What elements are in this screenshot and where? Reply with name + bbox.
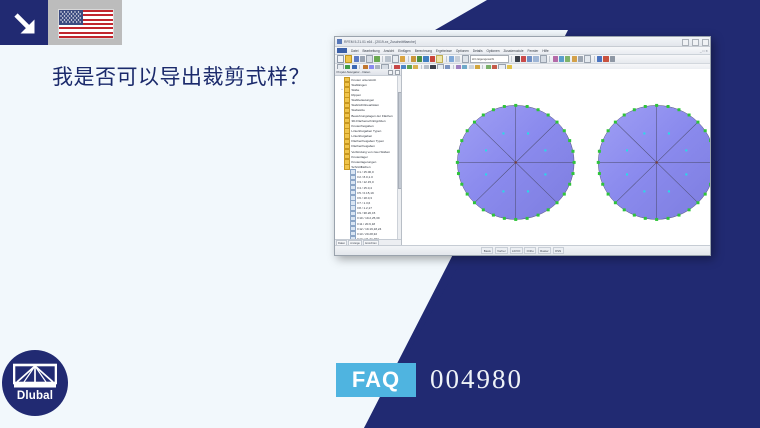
- dlubal-frame-icon: [13, 362, 57, 390]
- arrow-down-right-icon: [0, 0, 48, 45]
- language-flag-panel[interactable]: [48, 0, 122, 45]
- toolbar-primary[interactable]: LF1 Eigengewicht: [335, 55, 710, 64]
- page-title: 我是否可以导出裁剪式样？: [52, 64, 352, 91]
- faq-badge: FAQ: [336, 363, 416, 397]
- navigator-header-buttons[interactable]: [388, 70, 400, 75]
- tree-item-label: Stabbelastungen: [351, 98, 374, 102]
- boundary-node[interactable]: [614, 121, 617, 124]
- menu-item-8[interactable]: Optionen: [487, 49, 500, 53]
- toolbar-icon-view-xz[interactable]: [565, 56, 570, 61]
- boundary-node[interactable]: [677, 108, 680, 111]
- boundary-node[interactable]: [473, 201, 476, 204]
- tree-item-label: F4 / 15.0,4: [357, 186, 372, 190]
- status-bar[interactable]: Basis Vorher LF/VO Ortho Raster OSN: [335, 245, 710, 255]
- toolbar-separator-5: [549, 56, 550, 62]
- toolbar-icon-grid[interactable]: [578, 56, 583, 61]
- project-navigator[interactable]: Projekt-Navigator - Daten Knoten unterst…: [335, 69, 402, 246]
- tree-item-label: Rippen: [351, 93, 361, 97]
- boundary-node[interactable]: [607, 129, 610, 132]
- tree-item-label: 3D-Flächenschnittgrößen: [351, 119, 385, 123]
- boundary-node[interactable]: [704, 129, 707, 132]
- toolbar-icon-refresh[interactable]: [423, 56, 428, 61]
- shape-icon: [350, 205, 356, 210]
- us-flag-icon: [58, 9, 114, 39]
- boundary-node[interactable]: [623, 114, 626, 117]
- boundary-node[interactable]: [556, 121, 559, 124]
- menu-item-7[interactable]: Details: [473, 49, 483, 53]
- menu-item-4[interactable]: Berechnung: [415, 49, 432, 53]
- boundary-node[interactable]: [466, 193, 469, 196]
- tree-item-label: Verbindung von zwei Stäben: [351, 150, 390, 154]
- sector-marker-point[interactable]: [643, 190, 645, 192]
- boundary-node[interactable]: [709, 183, 710, 186]
- model-geometry: [402, 69, 710, 246]
- tree-item-label: Knotenfreigaben: [351, 124, 373, 128]
- boundary-node[interactable]: [601, 139, 604, 142]
- boundary-node[interactable]: [696, 121, 699, 124]
- tree-item-label: F7 / 1.3,6: [357, 201, 370, 205]
- tree-item-label: Stabsätze: [351, 108, 365, 112]
- center-node[interactable]: [515, 161, 517, 163]
- toolbar-separator: [382, 56, 383, 62]
- boundary-node[interactable]: [457, 172, 460, 175]
- boundary-node[interactable]: [563, 193, 566, 196]
- tree-item-label: Stäbe: [351, 88, 359, 92]
- boundary-node[interactable]: [460, 183, 463, 186]
- boundary-node[interactable]: [598, 150, 601, 153]
- tree-item-label: F12 / 19.19,18,24: [357, 227, 381, 231]
- toolbar-icon-copy[interactable]: [392, 55, 399, 62]
- sector-marker-point[interactable]: [643, 132, 645, 134]
- boundary-node[interactable]: [633, 108, 636, 111]
- sector-marker-point[interactable]: [502, 132, 504, 134]
- boundary-node[interactable]: [696, 201, 699, 204]
- menu-item-1[interactable]: Bearbeitung: [362, 49, 379, 53]
- boundary-node[interactable]: [667, 217, 670, 220]
- center-node[interactable]: [656, 161, 658, 163]
- menu-app-badge: [337, 48, 347, 54]
- tree-item-label: F11 / 20.9,18: [357, 222, 375, 226]
- toolbar-icon-view-yz[interactable]: [572, 56, 577, 61]
- toolbar-separator-4: [511, 56, 512, 62]
- navigator-pin-button[interactable]: [388, 70, 393, 75]
- status-cell-0[interactable]: Basis: [481, 247, 493, 254]
- toolbar-icon-undo[interactable]: [411, 56, 416, 61]
- menu-item-11[interactable]: Hilfe: [542, 49, 548, 53]
- boundary-node[interactable]: [456, 161, 459, 164]
- tree-item-label: F1 / 15.00,0: [357, 170, 373, 174]
- boundary-node[interactable]: [688, 208, 691, 211]
- boundary-node[interactable]: [482, 208, 485, 211]
- boundary-node[interactable]: [709, 139, 710, 142]
- boundary-node[interactable]: [598, 172, 601, 175]
- tree-item-label: F2 / 8.0,1.0: [357, 175, 372, 179]
- boundary-node[interactable]: [633, 214, 636, 217]
- toolbar-separator-6: [594, 56, 595, 62]
- dlubal-logo: Dlubal: [2, 350, 68, 416]
- boundary-node[interactable]: [571, 172, 574, 175]
- menu-item-9[interactable]: Zusatzmodule: [503, 49, 523, 53]
- load-case-combo[interactable]: LF1 Eigengewicht: [470, 55, 509, 63]
- boundary-node[interactable]: [537, 108, 540, 111]
- boundary-node[interactable]: [466, 129, 469, 132]
- boundary-node[interactable]: [568, 183, 571, 186]
- toolbar-icon-print[interactable]: [360, 56, 365, 61]
- window-titlebar[interactable]: RFEM 5.21.01 x64 - [2019-xx_Zuschnittfla…: [335, 37, 710, 47]
- tree-item[interactable]: F14 / 21.21,152: [335, 236, 401, 239]
- window-controls[interactable]: [682, 39, 709, 46]
- toolbar-separator-2: [408, 56, 409, 62]
- tree-item-label: Stablängen: [351, 83, 366, 87]
- boundary-node[interactable]: [492, 108, 495, 111]
- boundary-node[interactable]: [503, 105, 506, 108]
- faq-number: 004980: [430, 362, 523, 396]
- tree-item-label: F6 / 18.0,3: [357, 196, 372, 200]
- boundary-node[interactable]: [667, 105, 670, 108]
- minimize-button[interactable]: [682, 39, 689, 46]
- menu-item-0[interactable]: Datei: [351, 49, 358, 53]
- toolbar-icon-info[interactable]: [603, 56, 608, 61]
- toolbar-separator-3: [446, 56, 447, 62]
- circular-surface[interactable]: [597, 104, 710, 221]
- boundary-node[interactable]: [601, 183, 604, 186]
- sector-marker-point[interactable]: [544, 149, 546, 151]
- sector-marker-point[interactable]: [485, 149, 487, 151]
- tree-item-label: Linienfreigaben: [351, 134, 372, 138]
- boundary-node[interactable]: [607, 193, 610, 196]
- toolbar-icon-paste[interactable]: [400, 56, 405, 61]
- boundary-node[interactable]: [571, 150, 574, 153]
- boundary-node[interactable]: [573, 161, 576, 164]
- boundary-node[interactable]: [503, 217, 506, 220]
- status-cell-1[interactable]: Vorher: [495, 247, 508, 254]
- toolbar-icon-results[interactable]: [436, 55, 443, 62]
- slide-canvas: 我是否可以导出裁剪式样？ FAQ 004980 Dlubal RFEM 5.21…: [0, 0, 760, 428]
- sector-marker-point[interactable]: [685, 173, 687, 175]
- shape-icon: [350, 236, 356, 239]
- tree-item-label: F14 / 21.21,152: [357, 237, 378, 239]
- tree-item-label: Knotenlager: [351, 155, 367, 159]
- toolbar-icon-save[interactable]: [354, 56, 359, 61]
- toolbar-icon-shade[interactable]: [540, 55, 547, 62]
- boundary-node[interactable]: [556, 201, 559, 204]
- sector-marker-point[interactable]: [685, 149, 687, 151]
- toolbar-icon-redo[interactable]: [417, 56, 422, 61]
- boundary-node[interactable]: [655, 104, 658, 107]
- close-button[interactable]: [702, 39, 709, 46]
- boundary-node[interactable]: [655, 218, 658, 221]
- maximize-button[interactable]: [692, 39, 699, 46]
- navigator-title: Projekt-Navigator - Daten: [337, 70, 371, 74]
- toolbar-icon-render[interactable]: [527, 56, 532, 61]
- status-cell-4[interactable]: Raster: [538, 247, 551, 254]
- dlubal-wordmark: Dlubal: [2, 390, 68, 402]
- tree-item-label: Linienfreigaben Typen: [351, 129, 381, 133]
- boundary-node[interactable]: [623, 208, 626, 211]
- menu-item-6[interactable]: Optionen: [456, 49, 469, 53]
- toolbar-icon-wire[interactable]: [533, 56, 538, 61]
- toolbar-icon-help[interactable]: [597, 56, 602, 61]
- toolbar-icon-settings[interactable]: [610, 56, 615, 61]
- boundary-node[interactable]: [526, 217, 529, 220]
- tree-item-label: Flächenfreigaben: [351, 144, 375, 148]
- tree-item-label: Knotenlagerungen: [351, 160, 376, 164]
- mdi-window-controls[interactable]: _ □ ✕: [700, 49, 708, 53]
- navigator-scrollbar[interactable]: [397, 76, 401, 239]
- toolbar-icon-bold[interactable]: [515, 56, 520, 61]
- sector-marker-point[interactable]: [668, 132, 670, 134]
- sector-marker-point[interactable]: [668, 190, 670, 192]
- shape-icon: [350, 169, 356, 174]
- app-icon: [337, 39, 342, 44]
- menu-bar[interactable]: Datei Bearbeitung Ansicht Einfügen Berec…: [335, 47, 710, 55]
- tree-item-label: Stabnichtlinearitäten: [351, 103, 379, 107]
- boundary-node[interactable]: [482, 114, 485, 117]
- boundary-node[interactable]: [526, 105, 529, 108]
- boundary-node[interactable]: [688, 114, 691, 117]
- tree-item-label: Schnittflächen: [351, 165, 370, 169]
- boundary-node[interactable]: [547, 114, 550, 117]
- toolbar-icon-view-xy[interactable]: [559, 56, 564, 61]
- toolbar-icon-snap[interactable]: [584, 55, 591, 62]
- boundary-node[interactable]: [514, 104, 517, 107]
- tree-item-label: Flächenfreigaben Typen: [351, 139, 384, 143]
- boundary-node[interactable]: [704, 193, 707, 196]
- boundary-node[interactable]: [568, 139, 571, 142]
- toolbar-icon-preview[interactable]: [366, 55, 373, 62]
- boundary-node[interactable]: [644, 105, 647, 108]
- tree-item-label: Bewehrungslagen der Flächen: [351, 114, 392, 118]
- sector-marker-point[interactable]: [527, 132, 529, 134]
- boundary-node[interactable]: [473, 121, 476, 124]
- toolbar-icon-cut[interactable]: [385, 56, 390, 61]
- toolbar-icon-pan[interactable]: [462, 55, 469, 62]
- sector-marker-point[interactable]: [527, 190, 529, 192]
- work-area: Projekt-Navigator - Daten Knoten unterst…: [335, 69, 710, 246]
- menu-item-10[interactable]: Fenster: [528, 49, 539, 53]
- tree-item-label: Knoten unterstützt: [351, 78, 376, 82]
- model-viewport[interactable]: [402, 69, 710, 246]
- menu-item-3[interactable]: Einfügen: [398, 49, 411, 53]
- tree-item-label: F5 / 0.15,19: [357, 191, 373, 195]
- toolbar-icon-color[interactable]: [521, 56, 526, 61]
- sector-marker-point[interactable]: [502, 190, 504, 192]
- boundary-node[interactable]: [537, 214, 540, 217]
- toolbar-icon-zoom-out[interactable]: [455, 56, 460, 61]
- boundary-node[interactable]: [460, 139, 463, 142]
- menu-item-5[interactable]: Ergebnisse: [436, 49, 452, 53]
- tree-item-label: F9 / 38.20,15: [357, 211, 375, 215]
- tree-item-label: F10 / 19.2,25,39: [357, 216, 379, 220]
- boundary-node[interactable]: [597, 161, 600, 164]
- boundary-node[interactable]: [644, 217, 647, 220]
- boundary-node[interactable]: [677, 214, 680, 217]
- status-cell-3[interactable]: Ortho: [524, 247, 536, 254]
- navigator-tree[interactable]: Knoten unterstütztStablängen+StäbeRippen…: [335, 76, 401, 239]
- circular-surface[interactable]: [456, 104, 576, 221]
- tree-item-label: F3 / 12.15,0: [357, 180, 373, 184]
- tree-item-label: F8 / 1.2,17: [357, 206, 372, 210]
- status-cell-5[interactable]: OSN: [553, 247, 564, 254]
- toolbar-icon-new[interactable]: [337, 55, 344, 62]
- boundary-node[interactable]: [457, 150, 460, 153]
- navigator-header: Projekt-Navigator - Daten: [335, 69, 401, 76]
- navigator-close-button[interactable]: [395, 70, 400, 75]
- toolbar-icon-calc[interactable]: [430, 56, 435, 61]
- toolbar-icon-open[interactable]: [345, 55, 352, 62]
- window-title: RFEM 5.21.01 x64 - [2019-xx_Zuschnittfla…: [344, 40, 416, 44]
- sector-marker-point[interactable]: [485, 173, 487, 175]
- sector-marker-point[interactable]: [626, 149, 628, 151]
- toolbar-icon-view-iso[interactable]: [553, 56, 558, 61]
- application-window[interactable]: RFEM 5.21.01 x64 - [2019-xx_Zuschnittfla…: [334, 36, 711, 256]
- sector-marker-point[interactable]: [626, 173, 628, 175]
- boundary-node[interactable]: [514, 218, 517, 221]
- boundary-node[interactable]: [492, 214, 495, 217]
- status-cell-2[interactable]: LF/VO: [510, 247, 523, 254]
- toolbar-icon-export[interactable]: [374, 56, 379, 61]
- toolbar-icon-zoom-in[interactable]: [449, 56, 454, 61]
- menu-item-2[interactable]: Ansicht: [384, 49, 394, 53]
- tree-item-label: F13 / 20.28,32: [357, 232, 377, 236]
- boundary-node[interactable]: [563, 129, 566, 132]
- sector-marker-point[interactable]: [544, 173, 546, 175]
- boundary-node[interactable]: [614, 201, 617, 204]
- boundary-node[interactable]: [547, 208, 550, 211]
- navigator-scroll-thumb[interactable]: [398, 92, 401, 189]
